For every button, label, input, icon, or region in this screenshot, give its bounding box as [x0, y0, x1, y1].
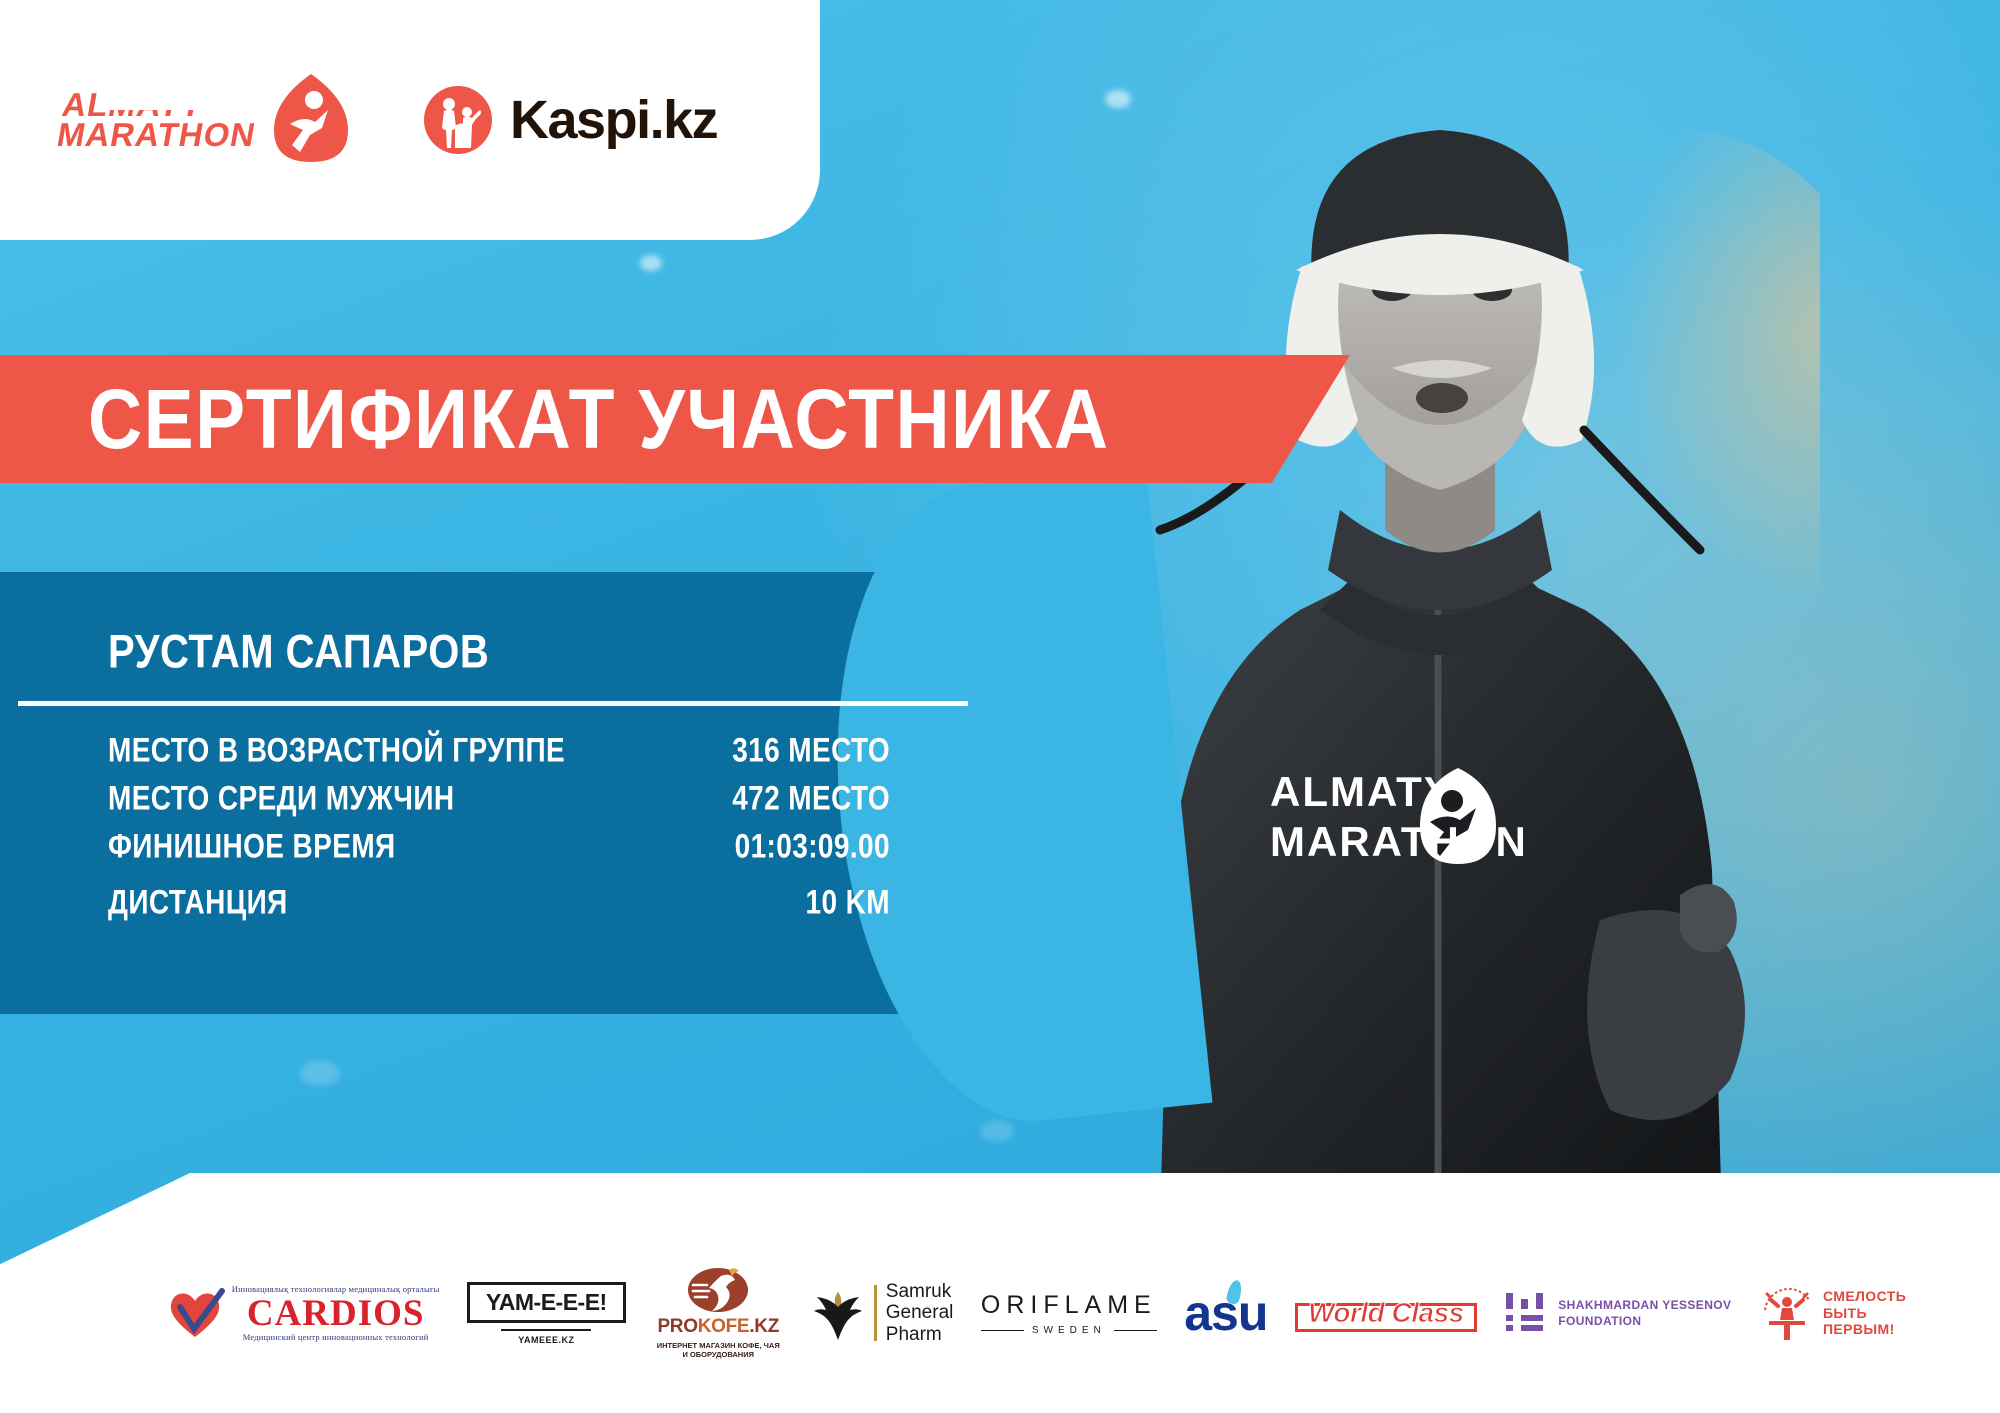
almaty-marathon-line2: MARATHON	[55, 120, 258, 150]
runner-drop-icon	[270, 72, 352, 168]
logo-row: ALMATY MARATHON	[0, 0, 820, 240]
sponsor-cardios: Инновациялық технологиялар медициналық о…	[150, 1258, 453, 1368]
svg-text:MARATHON: MARATHON	[1270, 818, 1528, 865]
certificate-title-banner: СЕРТИФИКАТ УЧАСТНИКА	[0, 355, 1350, 483]
stat-value: 472 МЕСТО	[732, 779, 890, 818]
eagle-icon	[811, 1286, 865, 1340]
snow-fleck	[640, 255, 662, 271]
stat-row: МЕСТО В ВОЗРАСТНОЙ ГРУППЕ 316 МЕСТО	[108, 738, 890, 770]
prokofe-tagline: ИНТЕРНЕТ МАГАЗИН КОФЕ, ЧАЯ И ОБОРУДОВАНИ…	[653, 1341, 783, 1360]
snow-fleck	[300, 1060, 340, 1086]
sponsor-yessenov: SHAKHMARDAN YESSENOV FOUNDATION	[1491, 1258, 1746, 1368]
participant-info-inner: РУСТАМ САПАРОВ МЕСТО В ВОЗРАСТНОЙ ГРУППЕ…	[0, 572, 1020, 1014]
stat-label: МЕСТО СРЕДИ МУЖЧИН	[108, 779, 455, 818]
sponsor-worldclass: World Class	[1281, 1258, 1490, 1368]
stat-value: 01:03:09.00	[735, 827, 890, 866]
samruk-line3: Pharm	[886, 1324, 954, 1345]
oriflame-country: SWEDEN	[1032, 1325, 1106, 1336]
oriflame-rule-left	[981, 1330, 1024, 1331]
stats-list: МЕСТО В ВОЗРАСТНОЙ ГРУППЕ 316 МЕСТО МЕСТ…	[0, 706, 890, 922]
stat-label: ФИНИШНОЕ ВРЕМЯ	[108, 827, 396, 866]
stat-row: ДИСТАНЦИЯ 10 KM	[108, 890, 890, 922]
raised-arms-figure-icon	[1759, 1284, 1815, 1342]
stat-label: ДИСТАНЦИЯ	[108, 883, 288, 922]
svg-text:ALMATY: ALMATY	[1270, 768, 1454, 815]
samruk-line2: General	[886, 1302, 954, 1323]
stat-value: 10 KM	[806, 883, 890, 922]
yessenov-line1: SHAKHMARDAN YESSENOV	[1558, 1297, 1731, 1313]
two-people-circle-icon	[422, 84, 494, 156]
stat-row: ФИНИШНОЕ ВРЕМЯ 01:03:09.00	[108, 834, 890, 866]
sponsor-samruk: Samruk General Pharm	[797, 1258, 967, 1368]
kaspi-wordmark: Kaspi.kz	[510, 89, 717, 151]
yameee-wordmark: YAM-E-E-E!	[467, 1282, 626, 1323]
cardios-wordmark: CARDIOS	[247, 1295, 425, 1332]
snow-fleck	[980, 1120, 1014, 1142]
samruk-divider	[874, 1285, 877, 1341]
bar-blocks-icon	[1504, 1291, 1546, 1335]
sponsor-yameee: YAM-E-E-E! YAMEEE.KZ	[453, 1258, 639, 1368]
participant-info-panel: РУСТАМ САПАРОВ МЕСТО В ВОЗРАСТНОЙ ГРУППЕ…	[0, 572, 1020, 1014]
smelost-line1: СМЕЛОСТЬ	[1823, 1288, 1906, 1305]
samruk-line1: Samruk	[886, 1281, 954, 1302]
sponsor-oriflame: ORIFLAME SWEDEN	[967, 1258, 1170, 1368]
sponsor-asu: asu	[1170, 1258, 1281, 1368]
yessenov-line2: FOUNDATION	[1558, 1313, 1731, 1329]
coffee-pourer-icon	[687, 1267, 749, 1313]
stat-label: МЕСТО В ВОЗРАСТНОЙ ГРУППЕ	[108, 731, 565, 770]
smelost-line2: БЫТЬ	[1823, 1305, 1906, 1322]
stat-row: МЕСТО СРЕДИ МУЖЧИН 472 МЕСТО	[108, 786, 890, 818]
kaspi-logo: Kaspi.kz	[422, 84, 717, 156]
oriflame-wordmark: ORIFLAME	[981, 1291, 1157, 1320]
yameee-url: YAMEEE.KZ	[501, 1329, 591, 1345]
worldclass-box-icon: World Class	[1295, 1303, 1477, 1332]
smelost-line3: ПЕРВЫМ!	[1823, 1321, 1906, 1338]
page-title: СЕРТИФИКАТ УЧАСТНИКА	[0, 371, 1109, 467]
sponsor-prokofe: PROKOFE.KZ ИНТЕРНЕТ МАГАЗИН КОФЕ, ЧАЯ И …	[639, 1258, 797, 1368]
heart-check-icon	[164, 1285, 226, 1341]
prokofe-wordmark: PROKOFE.KZ	[657, 1316, 779, 1338]
athlete-name: РУСТАМ САПАРОВ	[0, 572, 1020, 679]
worldclass-wordmark: World Class	[1308, 1297, 1464, 1328]
sponsor-logo-row: Инновациялық технологиялар медициналық о…	[0, 1173, 2000, 1413]
asu-wordmark: asu	[1184, 1285, 1267, 1341]
cardios-tagline-ru: Медицинский центр инновационных технолог…	[243, 1333, 429, 1342]
sponsor-smelost: СМЕЛОСТЬ БЫТЬ ПЕРВЫМ!	[1745, 1258, 1920, 1368]
oriflame-rule-right	[1114, 1330, 1157, 1331]
stat-value: 316 МЕСТО	[732, 731, 890, 770]
participant-certificate: ALMATY MARATHON СЕРТИФИКАТ УЧАСТНИКА ALM…	[0, 0, 2000, 1413]
